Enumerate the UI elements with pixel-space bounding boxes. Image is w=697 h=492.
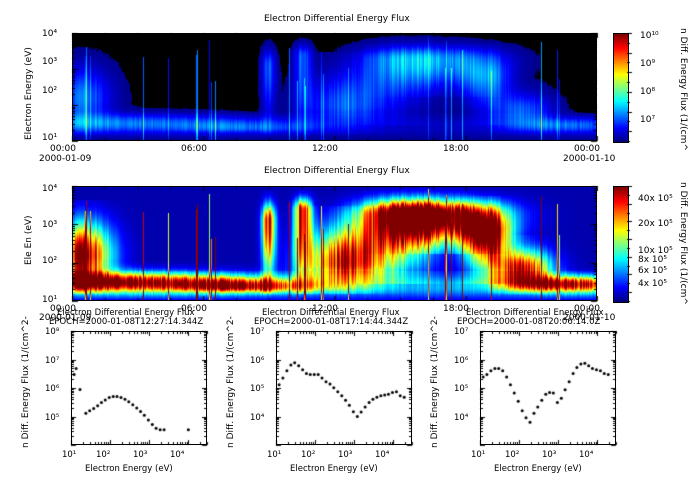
- spec2-ytick-4: 10⁴: [42, 184, 57, 194]
- line1-ytick-5: 10⁵: [45, 413, 59, 423]
- spec1-ylabel: Electron Energy (eV): [24, 47, 34, 140]
- line1-xlabel: Electron Energy (eV): [85, 464, 173, 474]
- line3-ylabel: n Diff. Energy Flux (1/(cm^2-: [430, 316, 440, 448]
- spec1-xtick-1: 06:00: [181, 144, 207, 154]
- spec1-ytick-3: 10³: [42, 57, 57, 67]
- line1-xtick-1: 10¹: [62, 450, 76, 460]
- spec1-cbar-label: n Diff. Energy Flux (1/(cm^: [678, 28, 688, 151]
- spec1-ytick-1: 10¹: [42, 133, 57, 143]
- line2-ytick-5: 10⁵: [250, 384, 264, 394]
- spec2-cbtick-5: 4x 10⁵: [638, 279, 667, 289]
- line2-ytick-7: 10⁷: [250, 327, 264, 337]
- line3-axes-frame: [480, 331, 616, 445]
- spec1-axes-frame: [72, 33, 597, 141]
- line2-xtick-4: 10⁴: [375, 450, 389, 460]
- spec2-cbtick-4: 6x 10⁵: [638, 266, 667, 276]
- line3-xlabel: Electron Energy (eV): [494, 464, 582, 474]
- line2-ytick-4: 10⁴: [250, 413, 264, 423]
- spec1-title: Electron Differential Energy Flux: [264, 14, 410, 24]
- line1-ylabel: n Diff. Energy Flux (1/(cm^2-: [21, 316, 31, 448]
- spec1-colorbar: [613, 33, 629, 143]
- spec2-cbar-label: n Diff. Energy Flux (1/(cm^: [678, 182, 688, 305]
- spec2-cbtick-1: 20x 10⁵: [638, 219, 673, 229]
- line3-xtick-1: 10¹: [471, 450, 485, 460]
- line1-xtick-4: 10⁴: [170, 450, 184, 460]
- line1-ytick-7: 10⁷: [45, 356, 59, 366]
- spec1-cbtick-3: 10⁷: [640, 115, 655, 125]
- line3-ytick-6: 10⁶: [454, 356, 468, 366]
- spec1-ytick-4: 10⁴: [42, 29, 57, 39]
- spec1-cbtick-0: 10¹⁰: [640, 31, 659, 41]
- spec1-xtick-0: 00:00: [50, 144, 76, 154]
- spec2-ylabel: Ele En (eV): [24, 215, 34, 265]
- spec2-cbtick-0: 40x 10⁵: [638, 194, 673, 204]
- line2-xlabel: Electron Energy (eV): [290, 464, 378, 474]
- line1-xtick-2: 10²: [96, 450, 110, 460]
- spec1-cbtick-2: 10⁸: [640, 87, 655, 97]
- line1-ytick-8: 10⁸: [45, 327, 59, 337]
- line1-subtitle: EPOCH=2000-01-08T12:27:14.344Z: [49, 317, 203, 327]
- spec2-ytick-3: 10³: [42, 220, 57, 230]
- spec2-cbtick-3: 8x 10⁵: [638, 255, 667, 265]
- line3-subtitle: EPOCH=2000-01-08T20:06:14.0Z: [457, 317, 600, 327]
- line3-xtick-2: 10²: [505, 450, 519, 460]
- line1-xtick-3: 10³: [133, 450, 147, 460]
- line3-ytick-7: 10⁷: [454, 327, 468, 337]
- line3-xtick-4: 10⁴: [579, 450, 593, 460]
- spec2-title: Electron Differential Energy Flux: [264, 166, 410, 176]
- spec1-xtick-4: 00:00: [574, 144, 600, 154]
- spec1-xdate-left: 2000-01-09: [39, 154, 91, 164]
- line2-ytick-6: 10⁶: [250, 356, 264, 366]
- line2-xtick-1: 10¹: [267, 450, 281, 460]
- spec2-colorbar: [613, 186, 629, 303]
- spec1-ytick-2: 10²: [42, 86, 57, 96]
- line2-ylabel: n Diff. Energy Flux (1/(cm^2-: [226, 316, 236, 448]
- line3-ytick-4: 10⁴: [454, 413, 468, 423]
- spec1-xtick-3: 18:00: [443, 144, 469, 154]
- line2-xtick-3: 10³: [338, 450, 352, 460]
- line3-xtick-3: 10³: [542, 450, 556, 460]
- line1-ytick-6: 10⁶: [45, 384, 59, 394]
- spec1-xdate-right: 2000-01-10: [563, 154, 615, 164]
- spec2-axes-frame: [72, 186, 597, 301]
- line3-ytick-5: 10⁵: [454, 384, 468, 394]
- spec1-cbtick-1: 10⁹: [640, 59, 655, 69]
- spec2-ytick-2: 10²: [42, 256, 57, 266]
- line2-subtitle: EPOCH=2000-01-08T17:14:44.344Z: [254, 317, 408, 327]
- line1-axes-frame: [71, 331, 207, 445]
- line2-xtick-2: 10²: [301, 450, 315, 460]
- line2-axes-frame: [276, 331, 412, 445]
- spec1-xtick-2: 12:00: [312, 144, 338, 154]
